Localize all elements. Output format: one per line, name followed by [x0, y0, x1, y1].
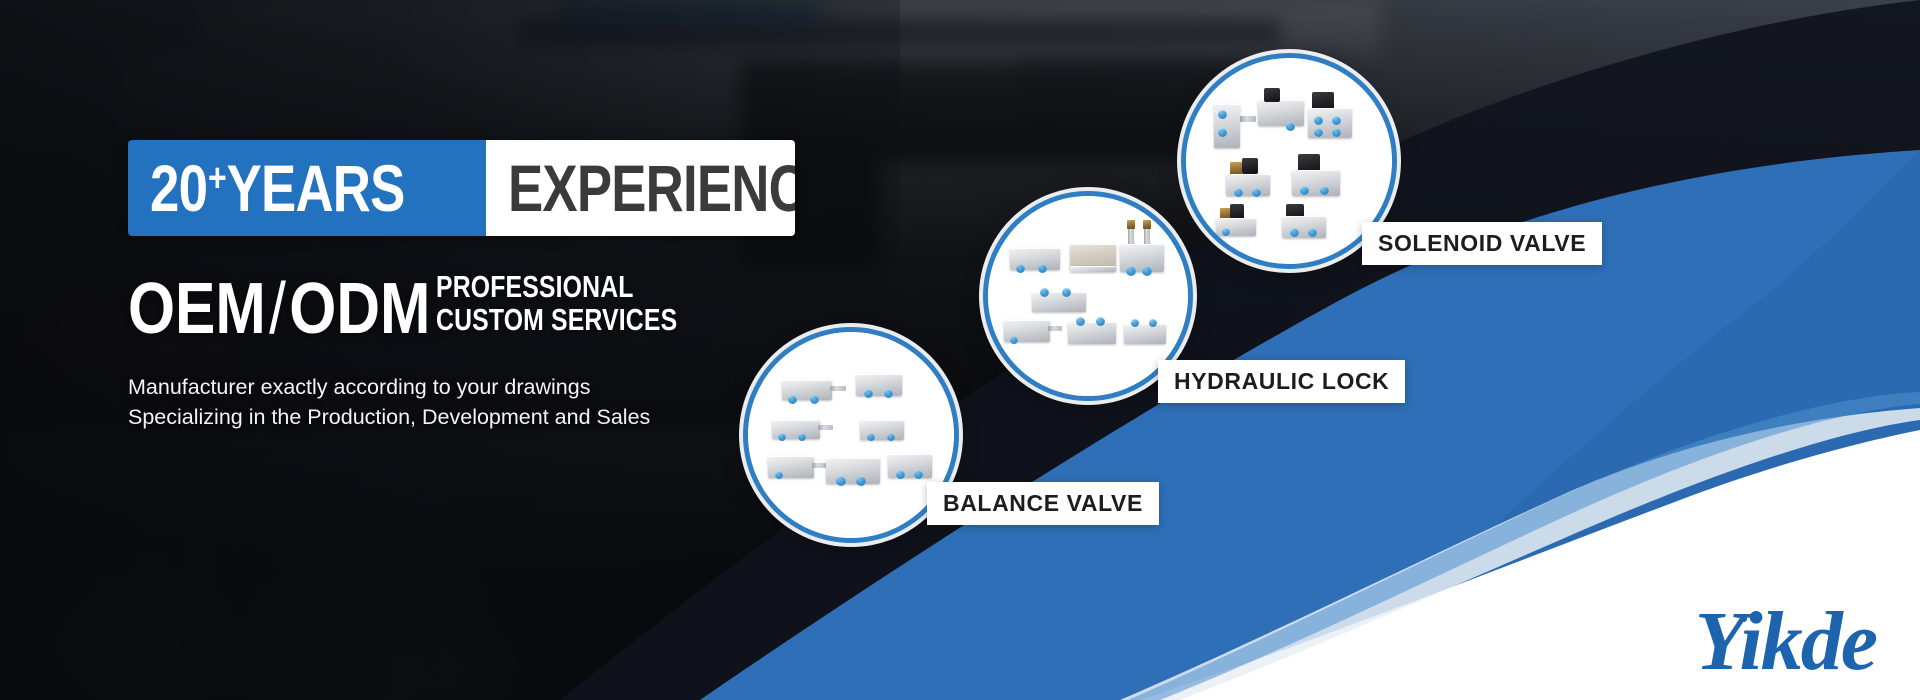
oem-tagline: PROFESSIONAL CUSTOM SERVICES: [436, 270, 677, 337]
label-text-solenoid-valve: SOLENOID VALVE: [1378, 230, 1586, 256]
years-experience-banner: 20+YEARS EXPERIENCE: [128, 140, 795, 236]
label-text-balance-valve: BALANCE VALVE: [943, 490, 1143, 516]
logo-wordmark: Yikde: [1695, 602, 1876, 682]
product-label-hydraulic-lock: HYDRAULIC LOCK: [1158, 360, 1405, 403]
years-blue-panel: 20+YEARS: [128, 140, 486, 236]
company-logo[interactable]: Yikde: [1695, 602, 1876, 682]
tagline-line-1: PROFESSIONAL: [436, 270, 677, 303]
banner-root: 20+YEARS EXPERIENCE OEM/ODM PROFESSIONAL…: [0, 0, 1920, 700]
experience-white-panel: EXPERIENCE: [486, 140, 795, 236]
product-label-balance-valve: BALANCE VALVE: [927, 482, 1159, 525]
tagline-line-2: CUSTOM SERVICES: [436, 303, 677, 336]
oem-odm-text: OEM/ODM: [128, 276, 430, 342]
oem-odm-row: OEM/ODM PROFESSIONAL CUSTOM SERVICES: [128, 270, 908, 342]
years-text: 20+YEARS: [150, 155, 405, 221]
oem-slash: /: [266, 269, 290, 349]
balance-valve-photo: [748, 332, 954, 538]
oem-right: ODM: [289, 269, 430, 349]
label-text-hydraulic-lock: HYDRAULIC LOCK: [1174, 368, 1389, 394]
oem-left: OEM: [128, 269, 266, 349]
product-circle-balance-valve[interactable]: [748, 332, 954, 538]
product-label-solenoid-valve: SOLENOID VALVE: [1362, 222, 1602, 265]
experience-text: EXPERIENCE: [508, 155, 795, 221]
logo-dots-icon: [1741, 616, 1757, 622]
